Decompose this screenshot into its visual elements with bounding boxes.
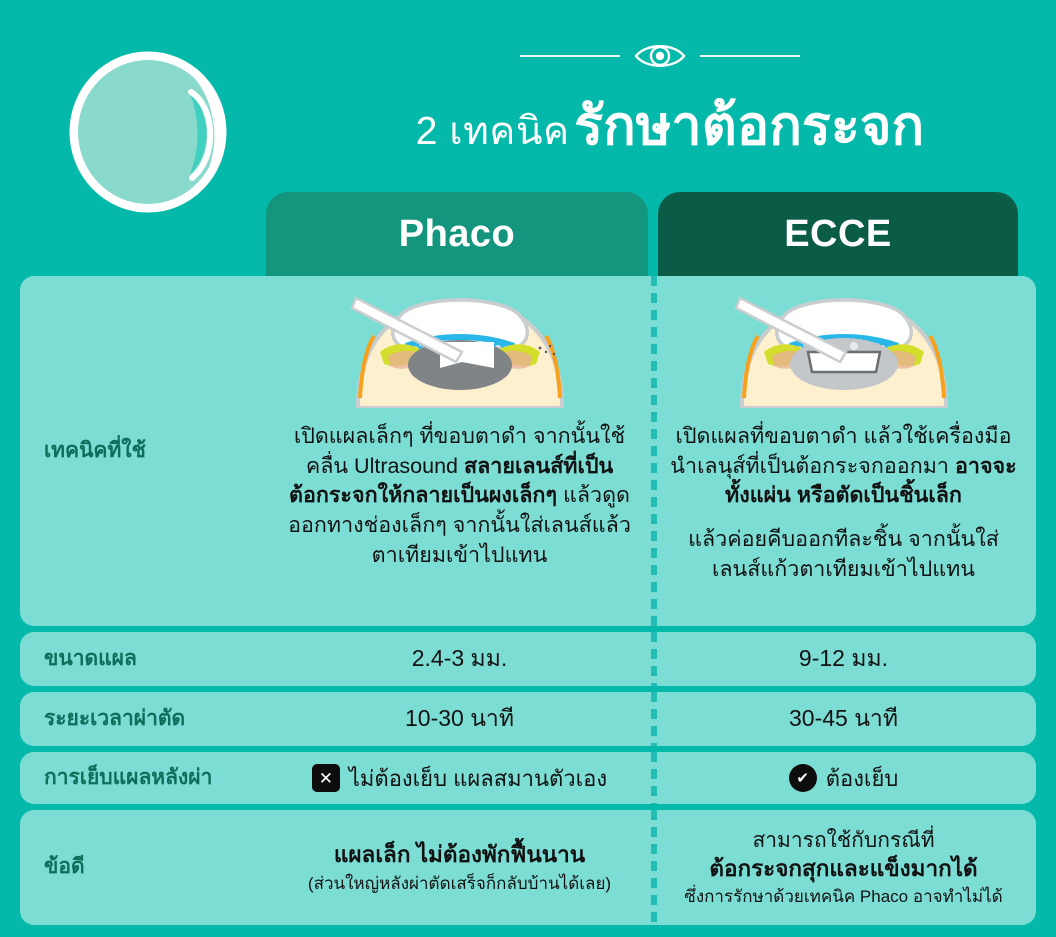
cell-duration-phaco: 10-30 นาที [268,701,651,737]
table-row-technique: เทคนิคที่ใช้ [20,276,1036,626]
column-divider [651,752,657,804]
cell-suture-ecce: ✔ ต้องเย็บ [651,761,1036,796]
technique-tabs: Phaco ECCE [0,192,1056,276]
cell-suture-ecce-text: ต้องเย็บ [826,761,899,796]
technique-ecce-text: เปิดแผลที่ขอบตาดำ แล้วใช้เครื่องมือนำเลน… [665,422,1022,584]
eye-cross-section-phaco-icon [344,290,576,408]
eye-outline-icon [632,39,688,73]
comparison-table: เทคนิคที่ใช้ [20,276,1036,931]
cell-wound-size-phaco: 2.4-3 มม. [268,641,651,677]
column-divider [651,276,657,626]
column-divider [651,692,657,746]
cell-suture-phaco-text: ไม่ต้องเย็บ แผลสมานตัวเอง [349,761,607,796]
cell-benefit-ecce: สามารถใช้กับกรณีที่ ต้อกระจกสุกและแข็งมา… [651,827,1036,909]
cell-technique-ecce: เปิดแผลที่ขอบตาดำ แล้วใช้เครื่องมือนำเลน… [651,276,1036,626]
header: 2 เทคนิค รักษาต้อกระจก [0,0,1056,192]
benefit-phaco-main: แผลเล็ก ไม่ต้องพักฟื้นนาน [334,840,585,869]
technique-ecce-part2: แล้วค่อยคีบออกทีละชิ้น จากนั้นใส่เลนส์แก… [665,525,1022,584]
tab-phaco-label: Phaco [399,213,516,256]
row-label-wound-size: ขนาดแผล [20,646,268,672]
tab-phaco[interactable]: Phaco [266,192,648,276]
column-divider [651,632,657,686]
eye-cross-section-ecce-icon [728,290,960,408]
divider-line-left [520,55,620,57]
cell-suture-phaco: ✕ ไม่ต้องเย็บ แผลสมานตัวเอง [268,761,651,796]
table-row-wound-size: ขนาดแผล 2.4-3 มม. 9-12 มม. [20,632,1036,686]
title-divider [470,38,850,74]
title-prefix: 2 เทคนิค [416,110,570,153]
row-label-technique: เทคนิคที่ใช้ [20,276,268,626]
check-mark-icon: ✔ [789,764,817,792]
benefit-phaco-sub: (ส่วนใหญ่หลังผ่าตัดเสร็จก็กลับบ้านได้เลย… [308,873,611,895]
benefit-ecce-pre: สามารถใช้กับกรณีที่ [752,827,934,854]
benefit-ecce-sub: ซึ่งการรักษาด้วยเทคนิค Phaco อาจทำไม่ได้ [684,886,1002,908]
technique-phaco-text: เปิดแผลเล็กๆ ที่ขอบตาดำ จากนั้นใช้ คลื่น… [282,422,637,570]
x-mark-icon: ✕ [312,764,340,792]
table-row-suture: การเย็บแผลหลังผ่า ✕ ไม่ต้องเย็บ แผลสมานต… [20,752,1036,804]
cell-benefit-phaco: แผลเล็ก ไม่ต้องพักฟื้นนาน (ส่วนใหญ่หลังผ… [268,840,651,894]
tab-ecce[interactable]: ECCE [658,192,1018,276]
tab-ecce-label: ECCE [784,213,892,256]
divider-line-right [700,55,800,57]
row-label-duration: ระยะเวลาผ่าตัด [20,706,268,732]
benefit-ecce-main: ต้อกระจกสุกและแข็งมากได้ [709,854,977,883]
cell-duration-ecce: 30-45 นาที [651,701,1036,737]
cell-wound-size-ecce: 9-12 มม. [651,641,1036,677]
table-row-duration: ระยะเวลาผ่าตัด 10-30 นาที 30-45 นาที [20,692,1036,746]
row-label-benefit: ข้อดี [20,854,268,880]
table-row-benefit: ข้อดี แผลเล็ก ไม่ต้องพักฟื้นนาน (ส่วนใหญ… [20,810,1036,925]
page-title: 2 เทคนิค รักษาต้อกระจก [300,82,1040,168]
title-main: รักษาต้อกระจก [574,96,924,156]
row-label-suture: การเย็บแผลหลังผ่า [20,765,268,791]
cell-technique-phaco: เปิดแผลเล็กๆ ที่ขอบตาดำ จากนั้นใช้ คลื่น… [268,276,651,626]
column-divider [651,810,657,925]
